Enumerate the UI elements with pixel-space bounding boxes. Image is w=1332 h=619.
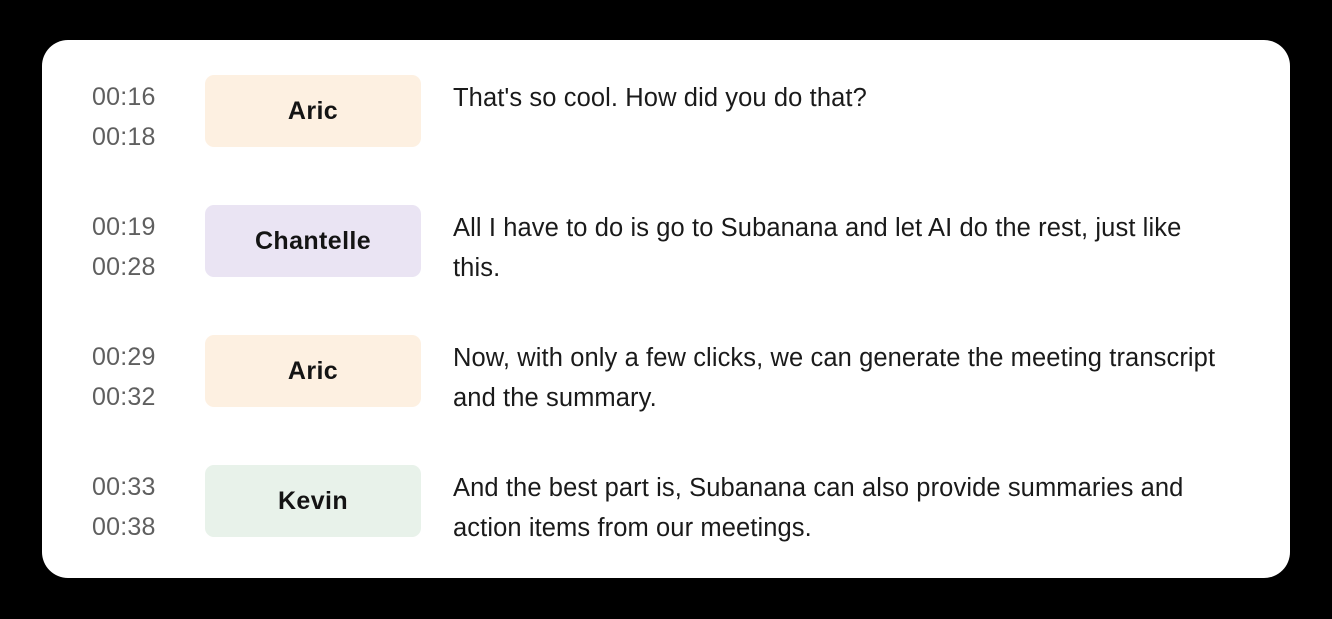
timestamp-start: 00:16 xyxy=(92,77,196,117)
timestamp-end: 00:32 xyxy=(92,377,196,417)
transcript-row[interactable]: 00:33 00:38 Kevin And the best part is, … xyxy=(42,465,1290,578)
speaker-chip[interactable]: Chantelle xyxy=(205,205,421,277)
timestamp-end: 00:28 xyxy=(92,247,196,287)
transcript-card: 00:16 00:18 Aric That's so cool. How did… xyxy=(42,40,1290,578)
message-text[interactable]: That's so cool. How did you do that? xyxy=(453,75,1290,118)
timestamp-range: 00:33 00:38 xyxy=(92,465,196,547)
timestamp-end: 00:38 xyxy=(92,507,196,547)
transcript-row[interactable]: 00:19 00:28 Chantelle All I have to do i… xyxy=(42,205,1290,335)
timestamp-start: 00:29 xyxy=(92,337,196,377)
timestamp-start: 00:19 xyxy=(92,207,196,247)
timestamp-end: 00:18 xyxy=(92,117,196,157)
timestamp-range: 00:29 00:32 xyxy=(92,335,196,417)
timestamp-start: 00:33 xyxy=(92,467,196,507)
transcript-list: 00:16 00:18 Aric That's so cool. How did… xyxy=(42,40,1290,578)
speaker-chip[interactable]: Aric xyxy=(205,335,421,407)
speaker-chip[interactable]: Kevin xyxy=(205,465,421,537)
message-text[interactable]: Now, with only a few clicks, we can gene… xyxy=(453,335,1290,418)
transcript-row[interactable]: 00:16 00:18 Aric That's so cool. How did… xyxy=(42,75,1290,205)
message-text[interactable]: And the best part is, Subanana can also … xyxy=(453,465,1290,548)
timestamp-range: 00:16 00:18 xyxy=(92,75,196,157)
message-text[interactable]: All I have to do is go to Subanana and l… xyxy=(453,205,1290,288)
timestamp-range: 00:19 00:28 xyxy=(92,205,196,287)
transcript-row[interactable]: 00:29 00:32 Aric Now, with only a few cl… xyxy=(42,335,1290,465)
speaker-chip[interactable]: Aric xyxy=(205,75,421,147)
